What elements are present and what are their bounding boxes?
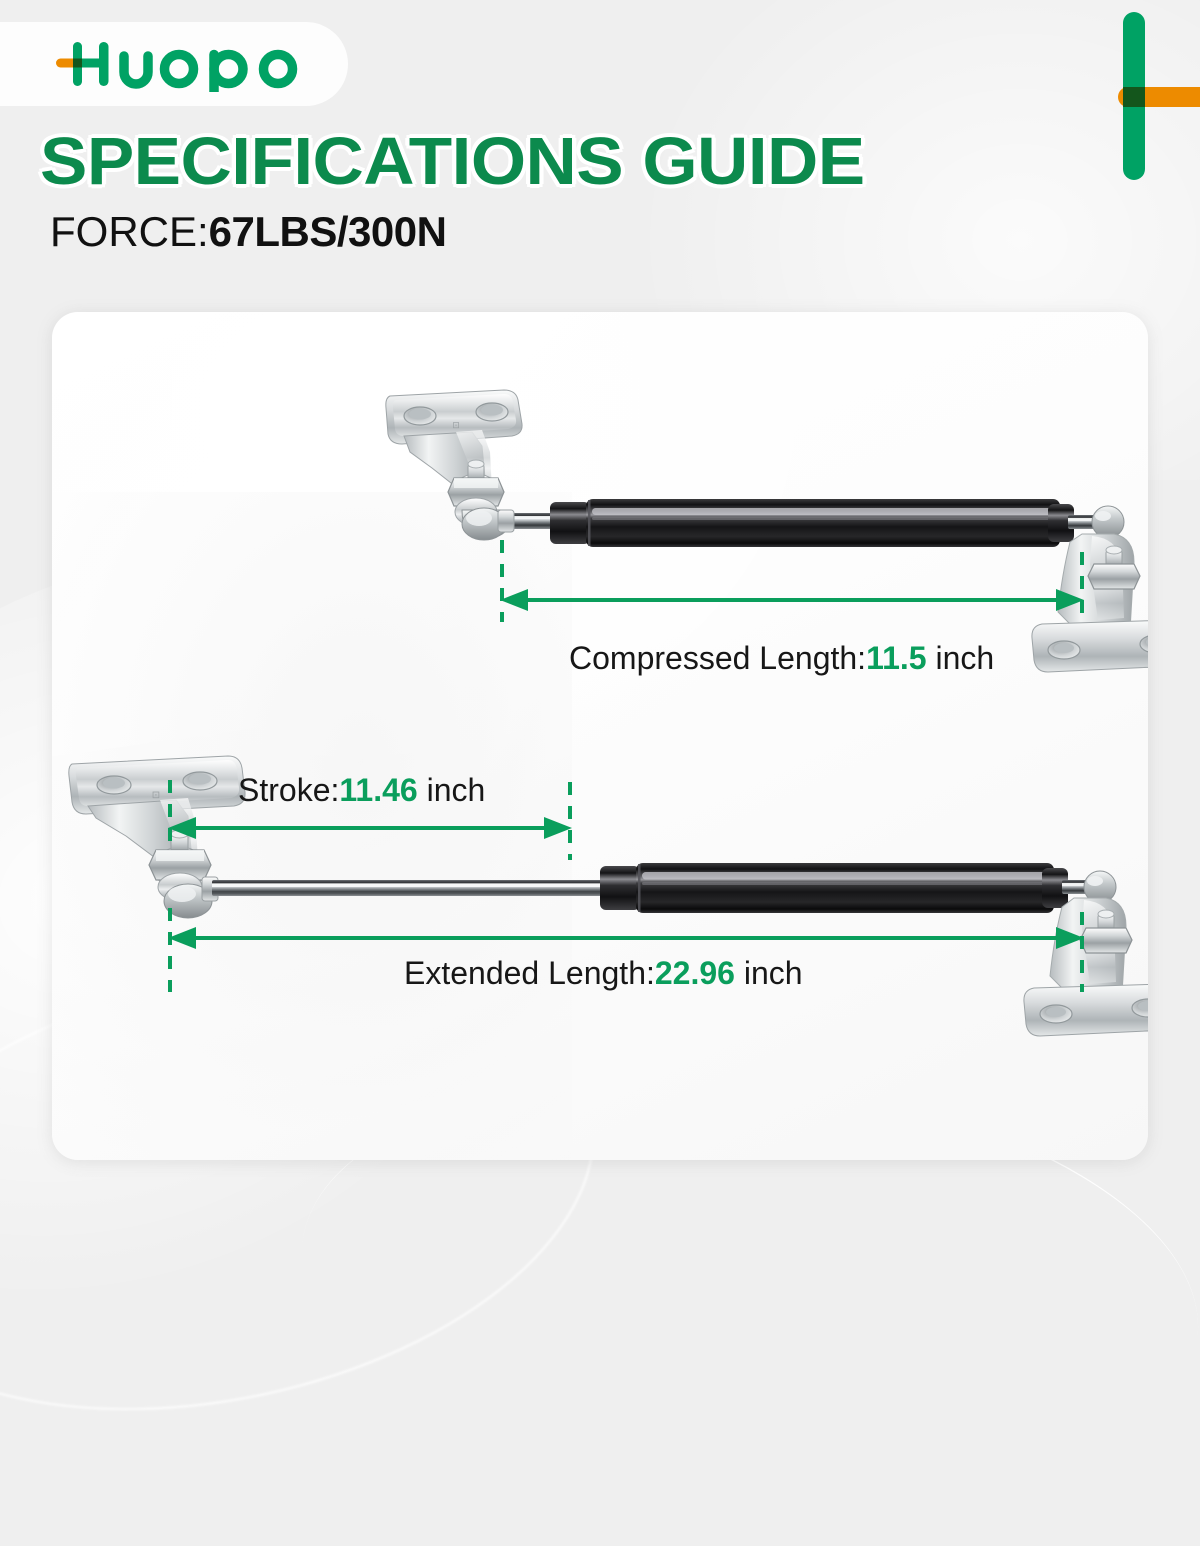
- extended-arrowhead-left: [168, 927, 196, 949]
- compressed-length-value: 11.5: [866, 640, 927, 676]
- compressed-length-unit: inch: [927, 640, 995, 676]
- page-title: SPECIFICATIONS GUIDE: [40, 128, 1047, 195]
- right-bracket-lower: [1024, 898, 1148, 1036]
- compressed-arrowhead-left: [500, 589, 528, 611]
- extended-length-unit: inch: [735, 955, 803, 991]
- piston-rod-upper: [498, 510, 554, 532]
- extended-length-prefix: Extended Length:: [404, 955, 655, 991]
- stroke-label: Stroke:11.46 inch: [238, 774, 485, 806]
- brand-logo: [0, 22, 348, 106]
- gas-cylinder-lower: [600, 863, 1068, 913]
- stroke-unit: inch: [418, 772, 486, 808]
- svg-text:⊡: ⊡: [452, 420, 460, 430]
- stroke-value: 11.46: [339, 772, 417, 808]
- specifications-panel: ⊡: [52, 312, 1148, 1160]
- compressed-length-prefix: Compressed Length:: [569, 640, 866, 676]
- rod-end-upper: [1068, 506, 1124, 538]
- piston-rod-lower: [202, 877, 604, 901]
- extended-length-value: 22.96: [655, 955, 735, 991]
- extended-length-label: Extended Length:22.96 inch: [404, 957, 803, 989]
- right-bracket-upper: [1032, 534, 1148, 672]
- plus-mark-icon: [1040, 0, 1200, 200]
- compressed-dimension: [500, 540, 1084, 622]
- diagram-stage: ⊡: [52, 312, 1148, 1160]
- svg-text:⊡: ⊡: [152, 790, 160, 801]
- plus-overlap: [1123, 87, 1145, 107]
- force-value: 67LBS/300N: [209, 208, 447, 255]
- extended-strut-assembly: ⊡: [69, 756, 1148, 1036]
- headline-block: SPECIFICATIONS GUIDE FORCE:67LBS/300N: [40, 128, 990, 253]
- force-spec: FORCE:67LBS/300N: [50, 211, 990, 253]
- gas-cylinder-upper: [550, 499, 1074, 547]
- huopo-wordmark-icon: [56, 36, 332, 92]
- compressed-length-label: Compressed Length:11.5 inch: [569, 642, 994, 674]
- stroke-arrowhead-right: [544, 817, 572, 839]
- compressed-strut-assembly: ⊡: [386, 390, 1148, 672]
- force-label: FORCE:: [50, 208, 209, 255]
- stroke-prefix: Stroke:: [238, 772, 339, 808]
